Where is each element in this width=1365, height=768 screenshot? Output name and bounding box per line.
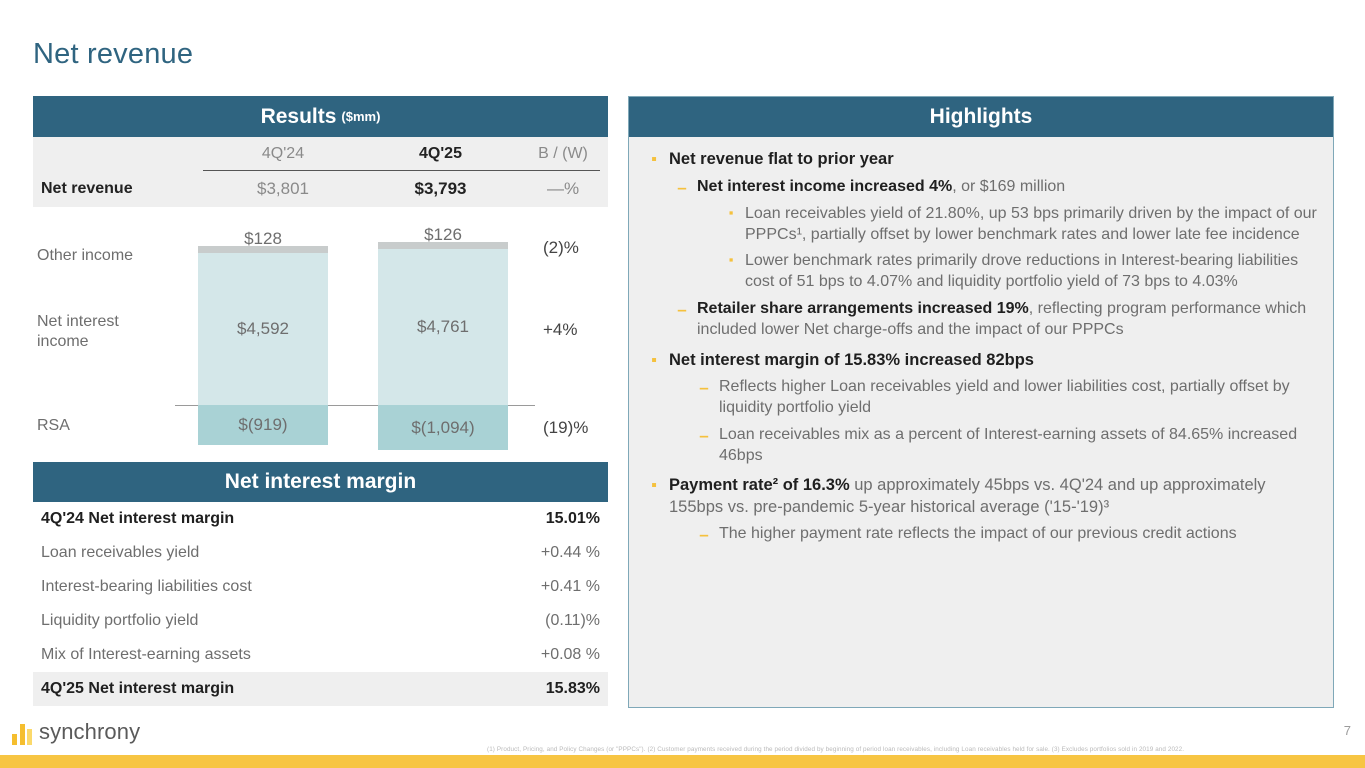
results-row-label: Net revenue	[33, 180, 203, 198]
highlights-panel: Highlights ▪ Net revenue flat to prior y…	[628, 96, 1334, 708]
net-revenue-bar-chart: Other income Net interestincome RSA $128…	[33, 228, 608, 450]
highlight-bullet-1-sub-1b: Lower benchmark rates primarily drove re…	[745, 251, 1321, 293]
chart-label-rsa: RSA	[37, 416, 70, 436]
results-table: Results ($mm) 4Q'24 4Q'25 B / (W) Net re…	[33, 96, 608, 207]
bullet-dash-icon: –	[689, 377, 719, 419]
nim-row-label: Interest-bearing liabilities cost	[41, 578, 541, 596]
chart-variance-net-interest-income: +4%	[543, 320, 578, 340]
table-row: Loan receivables yield +0.44 %	[33, 536, 608, 570]
results-col-bw: B / (W)	[518, 145, 608, 163]
nim-row-value: (0.11)%	[545, 612, 600, 630]
highlight-bold-fragment: Payment rate² of 16.3%	[669, 476, 850, 494]
list-item: ▪ Loan receivables yield of 21.80%, up 5…	[639, 204, 1321, 246]
bullet-square-icon: ▪	[639, 350, 669, 372]
nim-body: 4Q'24 Net interest margin 15.01% Loan re…	[33, 502, 608, 706]
bullet-square-icon: ▪	[639, 149, 669, 171]
list-item: – The higher payment rate reflects the i…	[639, 524, 1321, 545]
chart-label-other-income: Other income	[37, 246, 133, 266]
page-title: Net revenue	[33, 38, 193, 71]
results-header: Results ($mm)	[33, 96, 608, 137]
chart-plot-area: $128 $4,592 $(919) $126 $4,761 $(1,094	[173, 228, 573, 450]
nim-row-value: +0.41 %	[541, 578, 600, 596]
results-col-current: 4Q'25	[363, 145, 518, 163]
chart-variance-rsa: (19)%	[543, 418, 588, 438]
chart-variance-other-income: (2)%	[543, 238, 579, 258]
nim-row-value: +0.44 %	[541, 544, 600, 562]
chart-segment-other-income: $128	[198, 246, 328, 253]
chart-value-net-interest-income: $4,592	[237, 319, 289, 339]
table-row: Liquidity portfolio yield (0.11)%	[33, 604, 608, 638]
chart-value-rsa: $(1,094)	[411, 418, 474, 438]
chart-segment-net-interest-income: $4,761	[378, 249, 508, 405]
table-row: Mix of Interest-earning assets +0.08 %	[33, 638, 608, 672]
highlight-bullet-1-sub-1: Net interest income increased 4%, or $16…	[697, 177, 1321, 198]
highlight-bullet-1-sub-2: Retailer share arrangements increased 19…	[697, 299, 1321, 341]
nim-row-value: 15.83%	[546, 680, 600, 698]
highlight-bullet-1: Net revenue flat to prior year	[669, 149, 1321, 171]
highlight-bold-fragment: Retailer share arrangements increased 19…	[697, 300, 1029, 317]
chart-value-other-income: $126	[424, 225, 462, 245]
nim-header: Net interest margin	[33, 462, 608, 502]
nim-row-label: Loan receivables yield	[41, 544, 541, 562]
bullet-square-icon: ▪	[717, 251, 745, 293]
chart-segment-rsa: $(1,094)	[378, 405, 508, 450]
chart-category-labels: Other income Net interestincome RSA	[33, 228, 193, 450]
list-item: – Net interest income increased 4%, or $…	[639, 177, 1321, 198]
chart-value-net-interest-income: $4,761	[417, 317, 469, 337]
bullet-dash-icon: –	[689, 425, 719, 467]
results-row-bw: —%	[518, 179, 608, 199]
list-item: ▪ Payment rate² of 16.3% up approximatel…	[639, 475, 1321, 518]
results-row-prior: $3,801	[203, 179, 363, 199]
list-item: ▪ Net interest margin of 15.83% increase…	[639, 350, 1321, 372]
bottom-accent-stripe	[0, 755, 1365, 768]
table-row: Net revenue $3,801 $3,793 —%	[33, 171, 608, 207]
nim-row-label: Liquidity portfolio yield	[41, 612, 545, 630]
table-row: 4Q'24 Net interest margin 15.01%	[33, 502, 608, 536]
synchrony-bars-icon	[12, 723, 32, 745]
highlights-header: Highlights	[629, 97, 1333, 137]
chart-segment-net-interest-income: $4,592	[198, 253, 328, 405]
highlight-bullet-3: Payment rate² of 16.3% up approximately …	[669, 475, 1321, 518]
table-row: Interest-bearing liabilities cost +0.41 …	[33, 570, 608, 604]
list-item: ▪ Net revenue flat to prior year	[639, 149, 1321, 171]
highlights-body: ▪ Net revenue flat to prior year – Net i…	[629, 137, 1333, 546]
nim-row-value: 15.01%	[546, 510, 600, 528]
chart-value-rsa: $(919)	[238, 415, 287, 435]
slide: Net revenue Results ($mm) 4Q'24 4Q'25 B …	[0, 0, 1365, 768]
chart-value-other-income: $128	[244, 229, 282, 249]
chart-segment-rsa: $(919)	[198, 405, 328, 445]
highlight-plain-fragment: , or $169 million	[952, 178, 1065, 195]
highlight-bullet-3-sub-1: The higher payment rate reflects the imp…	[719, 524, 1321, 545]
bullet-dash-icon: –	[667, 177, 697, 198]
nim-row-label: Mix of Interest-earning assets	[41, 646, 541, 664]
highlight-bullet-2: Net interest margin of 15.83% increased …	[669, 350, 1321, 372]
list-item: – Retailer share arrangements increased …	[639, 299, 1321, 341]
page-number: 7	[1344, 723, 1351, 738]
list-item: – Reflects higher Loan receivables yield…	[639, 377, 1321, 419]
highlight-bullet-2-sub-2: Loan receivables mix as a percent of Int…	[719, 425, 1321, 467]
nim-row-value: +0.08 %	[541, 646, 600, 664]
results-header-unit: ($mm)	[341, 109, 380, 124]
results-column-headers: 4Q'24 4Q'25 B / (W)	[33, 137, 608, 170]
synchrony-logo: synchrony	[12, 719, 140, 745]
nim-row-label: 4Q'24 Net interest margin	[41, 510, 546, 528]
highlight-bullet-2-sub-1: Reflects higher Loan receivables yield a…	[719, 377, 1321, 419]
footnotes: (1) Product, Pricing, and Policy Changes…	[487, 746, 1342, 753]
highlight-bullet-1-sub-1a: Loan receivables yield of 21.80%, up 53 …	[745, 204, 1321, 246]
logo-wordmark: synchrony	[39, 719, 140, 745]
net-interest-margin-table: Net interest margin 4Q'24 Net interest m…	[33, 462, 608, 706]
bullet-square-icon: ▪	[639, 475, 669, 518]
list-item: ▪ Lower benchmark rates primarily drove …	[639, 251, 1321, 293]
results-body: 4Q'24 4Q'25 B / (W) Net revenue $3,801 $…	[33, 137, 608, 207]
highlight-bold-fragment: Net interest income increased 4%	[697, 178, 952, 195]
results-col-prior: 4Q'24	[203, 145, 363, 163]
bullet-dash-icon: –	[667, 299, 697, 341]
bullet-square-icon: ▪	[717, 204, 745, 246]
results-header-title: Results	[261, 105, 337, 129]
results-row-current: $3,793	[363, 179, 518, 199]
bullet-dash-icon: –	[689, 524, 719, 545]
nim-row-label: 4Q'25 Net interest margin	[41, 680, 546, 698]
chart-segment-other-income: $126	[378, 242, 508, 249]
list-item: – Loan receivables mix as a percent of I…	[639, 425, 1321, 467]
table-row: 4Q'25 Net interest margin 15.83%	[33, 672, 608, 706]
chart-label-net-interest-income: Net interestincome	[37, 312, 119, 352]
